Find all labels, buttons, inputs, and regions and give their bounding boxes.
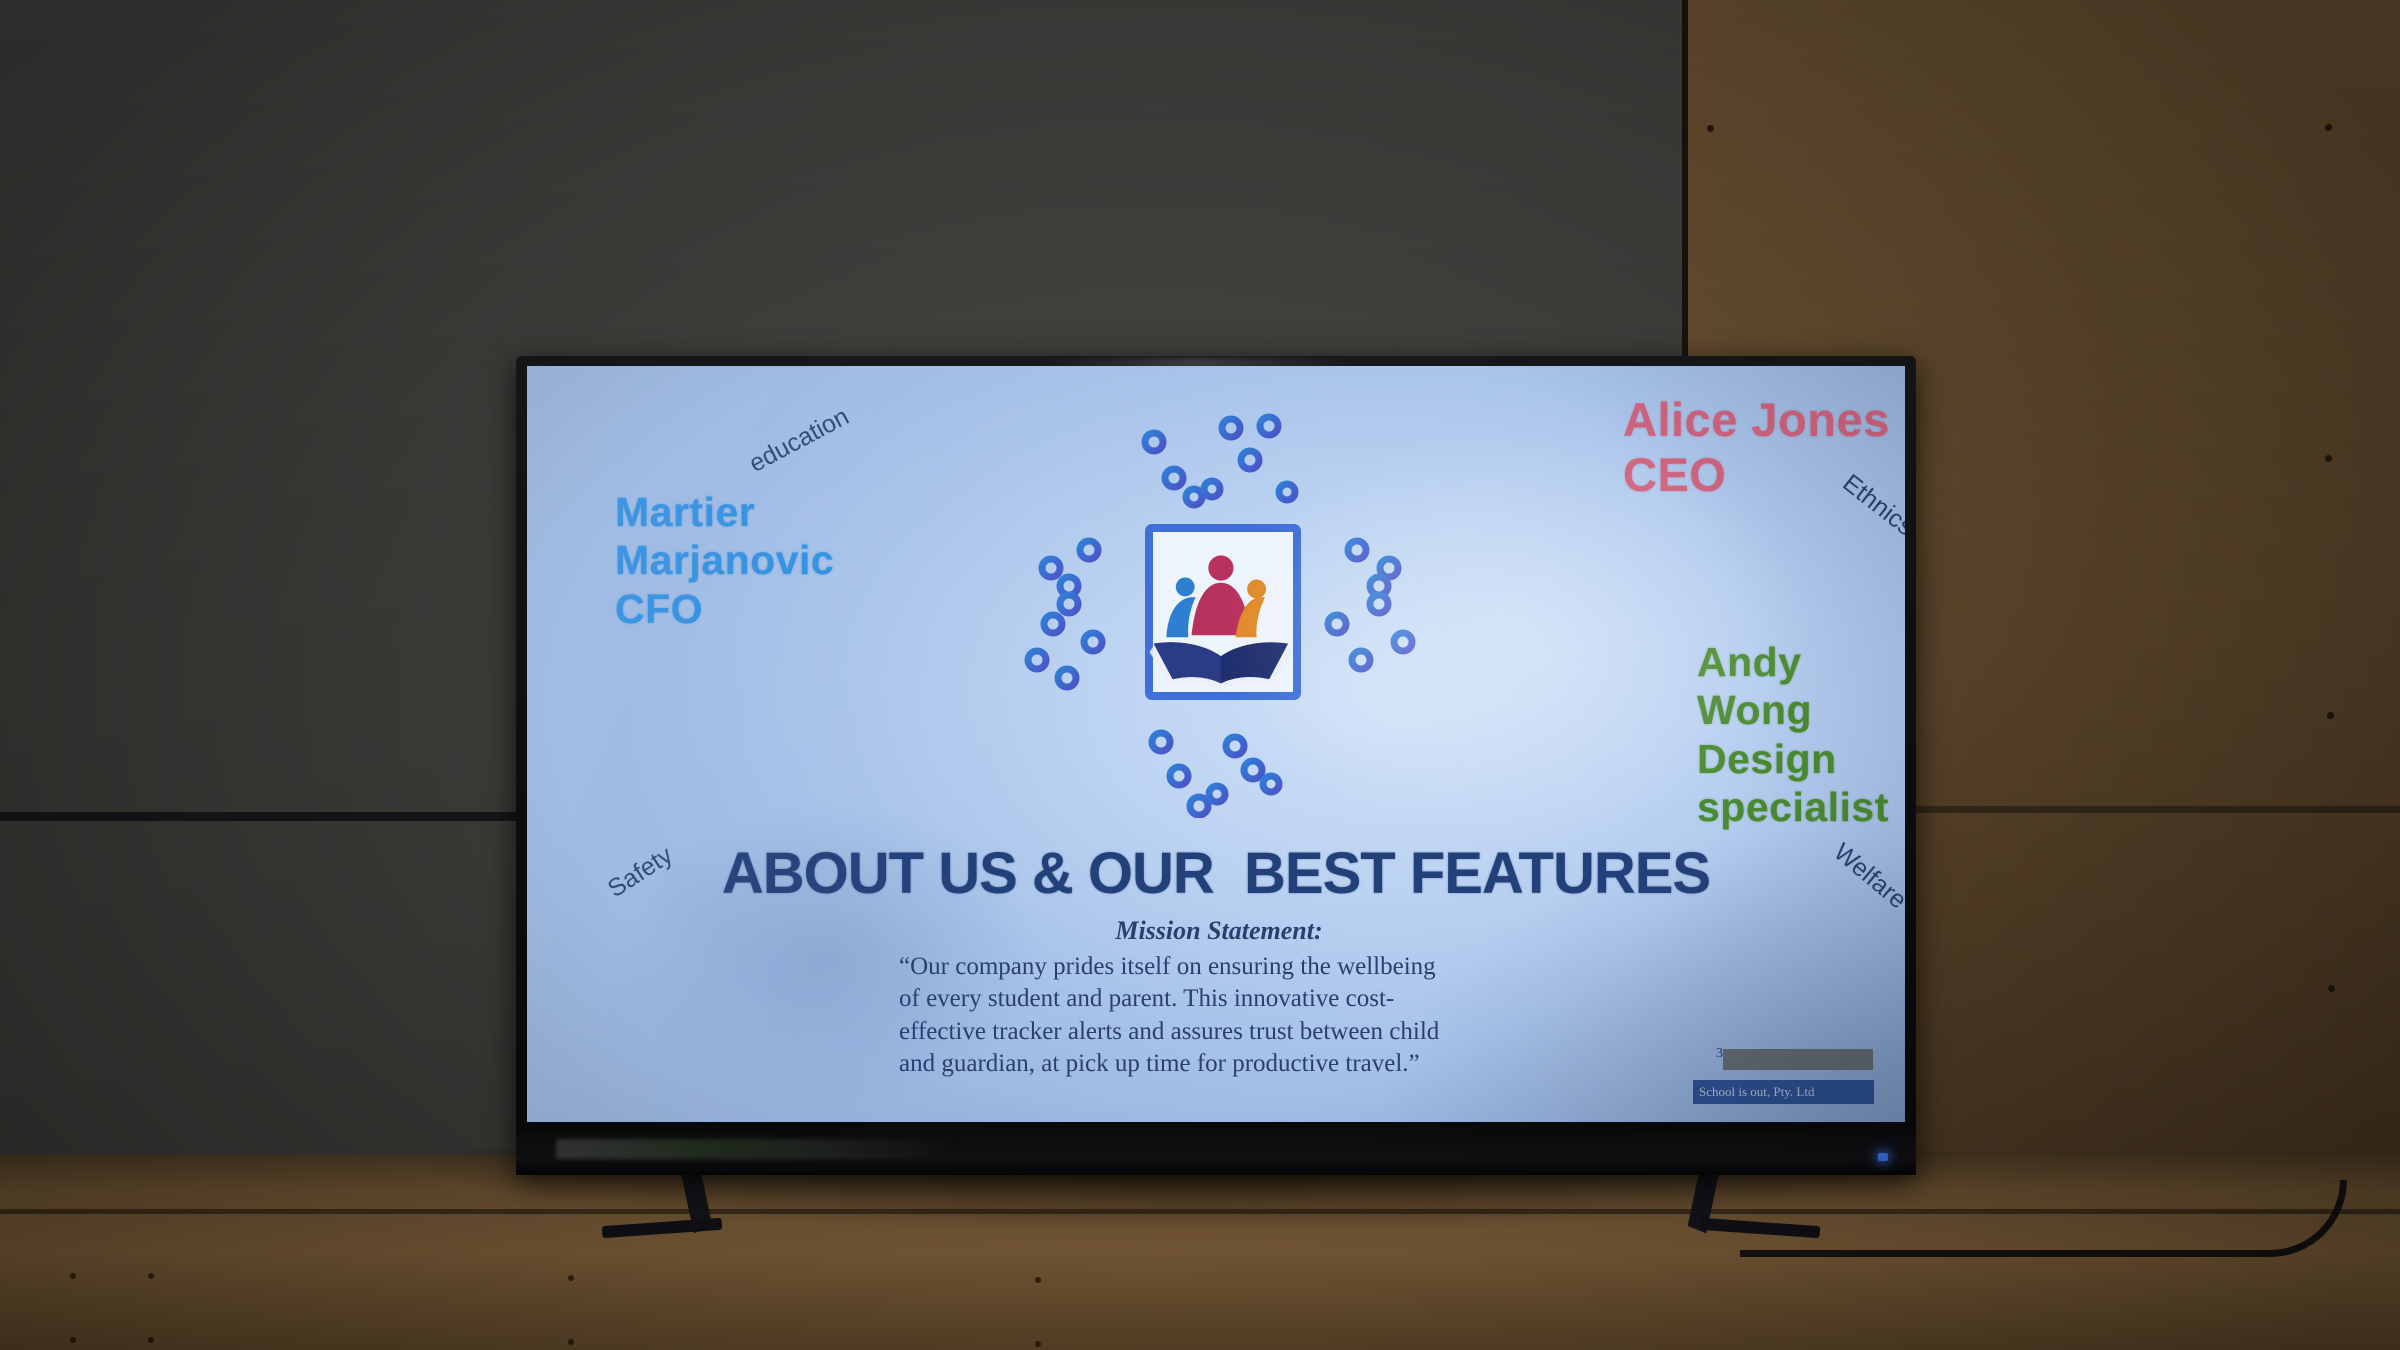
mission-line-1: “Our company prides itself on ensuring t… bbox=[899, 951, 1539, 984]
mission-line-2: of every student and parent. This innova… bbox=[899, 983, 1539, 1016]
person-cfo-name-line1: Martier bbox=[615, 488, 834, 536]
person-ceo-name: Alice Jones bbox=[1623, 392, 1890, 447]
chin-reflection bbox=[556, 1139, 956, 1159]
room-photo-scene: education Ethnics Safety Welfare Martier… bbox=[0, 0, 2400, 1350]
slide-page-number: 3 bbox=[1716, 1046, 1723, 1062]
person-cfo: Martier Marjanovic CFO bbox=[615, 488, 834, 633]
taskbar-grey-placeholder bbox=[1723, 1049, 1873, 1070]
shelf-hole bbox=[1035, 1277, 1041, 1283]
wall-mark bbox=[2325, 455, 2332, 462]
person-design-specialist: Andy Wong Design specialist bbox=[1697, 638, 1905, 832]
wall-mark bbox=[2327, 712, 2334, 719]
person-design-name: Andy Wong bbox=[1697, 638, 1905, 735]
slide-screen: education Ethnics Safety Welfare Martier… bbox=[527, 366, 1905, 1122]
person-ceo: Alice Jones CEO bbox=[1623, 392, 1890, 503]
taskbar-status-item[interactable]: School is out, Pty. Ltd bbox=[1693, 1080, 1874, 1104]
shelf-hole bbox=[70, 1273, 76, 1279]
wall-mark bbox=[2325, 124, 2332, 131]
wall-mark bbox=[1707, 125, 1714, 132]
person-design-role-line2: specialist bbox=[1697, 783, 1905, 831]
power-cable bbox=[1740, 1180, 2347, 1257]
slide-heading: ABOUT US & OUR BEST FEATURES bbox=[527, 840, 1905, 907]
wall-mark bbox=[2328, 985, 2335, 992]
power-led-icon bbox=[1878, 1153, 1888, 1161]
keyword-education: education bbox=[745, 402, 854, 479]
mission-line-3: effective tracker alerts and assures tru… bbox=[899, 1016, 1539, 1049]
shelf-hole bbox=[148, 1273, 154, 1279]
person-design-role-line1: Design bbox=[1697, 735, 1905, 783]
mission-statement-title: Mission Statement: bbox=[899, 914, 1539, 948]
television: education Ethnics Safety Welfare Martier… bbox=[516, 356, 1916, 1175]
mission-statement: Mission Statement: “Our company prides i… bbox=[899, 914, 1539, 1081]
mission-line-4: and guardian, at pick up time for produc… bbox=[899, 1048, 1539, 1081]
shelf-hole bbox=[70, 1337, 76, 1343]
person-cfo-role: CFO bbox=[615, 585, 834, 633]
shelf-hole bbox=[1035, 1341, 1041, 1347]
person-cfo-name-line2: Marjanovic bbox=[615, 536, 834, 584]
shelf-hole bbox=[568, 1275, 574, 1281]
microchip-education-logo-icon bbox=[1019, 378, 1419, 818]
shelf-hole bbox=[148, 1337, 154, 1343]
shelf-hole bbox=[568, 1339, 574, 1345]
person-ceo-role: CEO bbox=[1623, 447, 1890, 502]
